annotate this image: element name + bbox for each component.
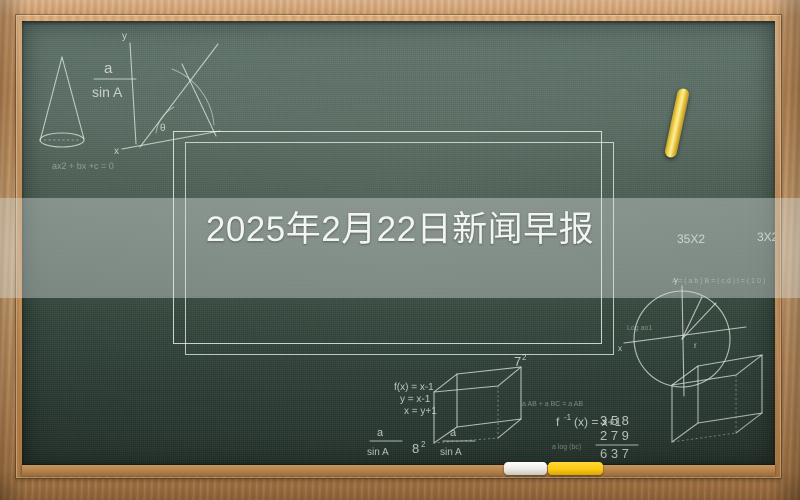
ledge-yellow-chalk xyxy=(548,462,603,475)
chalk-quadratic-equation: ax2 + bx +c = 0 xyxy=(52,161,114,171)
sine-fraction-bottom-mid: a sin A xyxy=(440,427,475,458)
chalk-fx-line2: y = x-1 xyxy=(400,394,431,405)
chalk-sin-a-denominator: sin A xyxy=(92,84,123,100)
chalk-radius-label: r xyxy=(694,341,697,350)
chalk-fx-line1: f(x) = x-1 xyxy=(394,382,434,393)
chalk-fx-line3: x = y+1 xyxy=(404,406,437,417)
chalk-circle-x-label: x xyxy=(618,344,622,353)
cube-center-drawing xyxy=(434,367,521,443)
poster-canvas: a sin A y x θ ax2 + bx +c = 0 f(x) = x-1… xyxy=(0,0,800,500)
circle-radius-diagram: y x r xyxy=(618,276,746,396)
ledge-white-chalk xyxy=(504,462,547,475)
chalk-faint-vector-eq: a AB + a BC = a AB xyxy=(522,401,583,408)
chalk-a-num-bm: a xyxy=(450,427,457,439)
subtraction-sum: 3 5 8 2 7 9 6 3 7 xyxy=(596,413,638,461)
chalk-sina-den-bm: sin A xyxy=(440,447,462,458)
cone-drawing xyxy=(40,57,84,147)
chalk-a-numerator: a xyxy=(104,60,113,77)
chalk-circle-y-label: y xyxy=(674,276,678,285)
chalk-eight-power: 2 xyxy=(421,440,426,449)
chalk-eight: 8 xyxy=(412,441,419,456)
chalk-inverse-f: f xyxy=(556,415,560,429)
chalk-matrix-expression: A = ( a b ) B = ( c d ) I = ( 1 0 ) xyxy=(672,278,765,285)
cube-right-drawing xyxy=(672,355,762,442)
chalk-inverse-rest: (x) = x+1 xyxy=(574,415,622,429)
page-title: 2025年2月22日新闻早报 xyxy=(0,212,800,247)
chalk-sum-top: 3 5 8 xyxy=(600,413,629,428)
inverse-function-text: f -1 (x) = x+1 xyxy=(556,413,622,429)
chalk-theta-label: θ xyxy=(160,123,166,134)
function-mapping-text: f(x) = x-1 y = x-1 x = y+1 xyxy=(394,382,437,417)
chalk-log-ao1: Log ao1 xyxy=(627,325,652,332)
sine-fraction-top: a sin A xyxy=(92,60,136,100)
chalk-log-bc: a log (bc) xyxy=(552,444,581,451)
chalk-sum-mid: 2 7 9 xyxy=(600,428,629,443)
chalk-x-axis-label: x xyxy=(114,146,119,157)
chalk-y-axis-label: y xyxy=(122,31,127,42)
chalk-a-num-bl: a xyxy=(377,427,384,439)
chalk-inverse-superscript: -1 xyxy=(564,413,572,422)
chalk-seven: 7 xyxy=(514,354,521,369)
chalk-ledge xyxy=(22,465,775,476)
chalk-sum-result: 6 3 7 xyxy=(600,446,629,461)
sine-fraction-bottom-left: a sin A xyxy=(367,427,402,458)
chalk-sina-den-bl: sin A xyxy=(367,447,389,458)
